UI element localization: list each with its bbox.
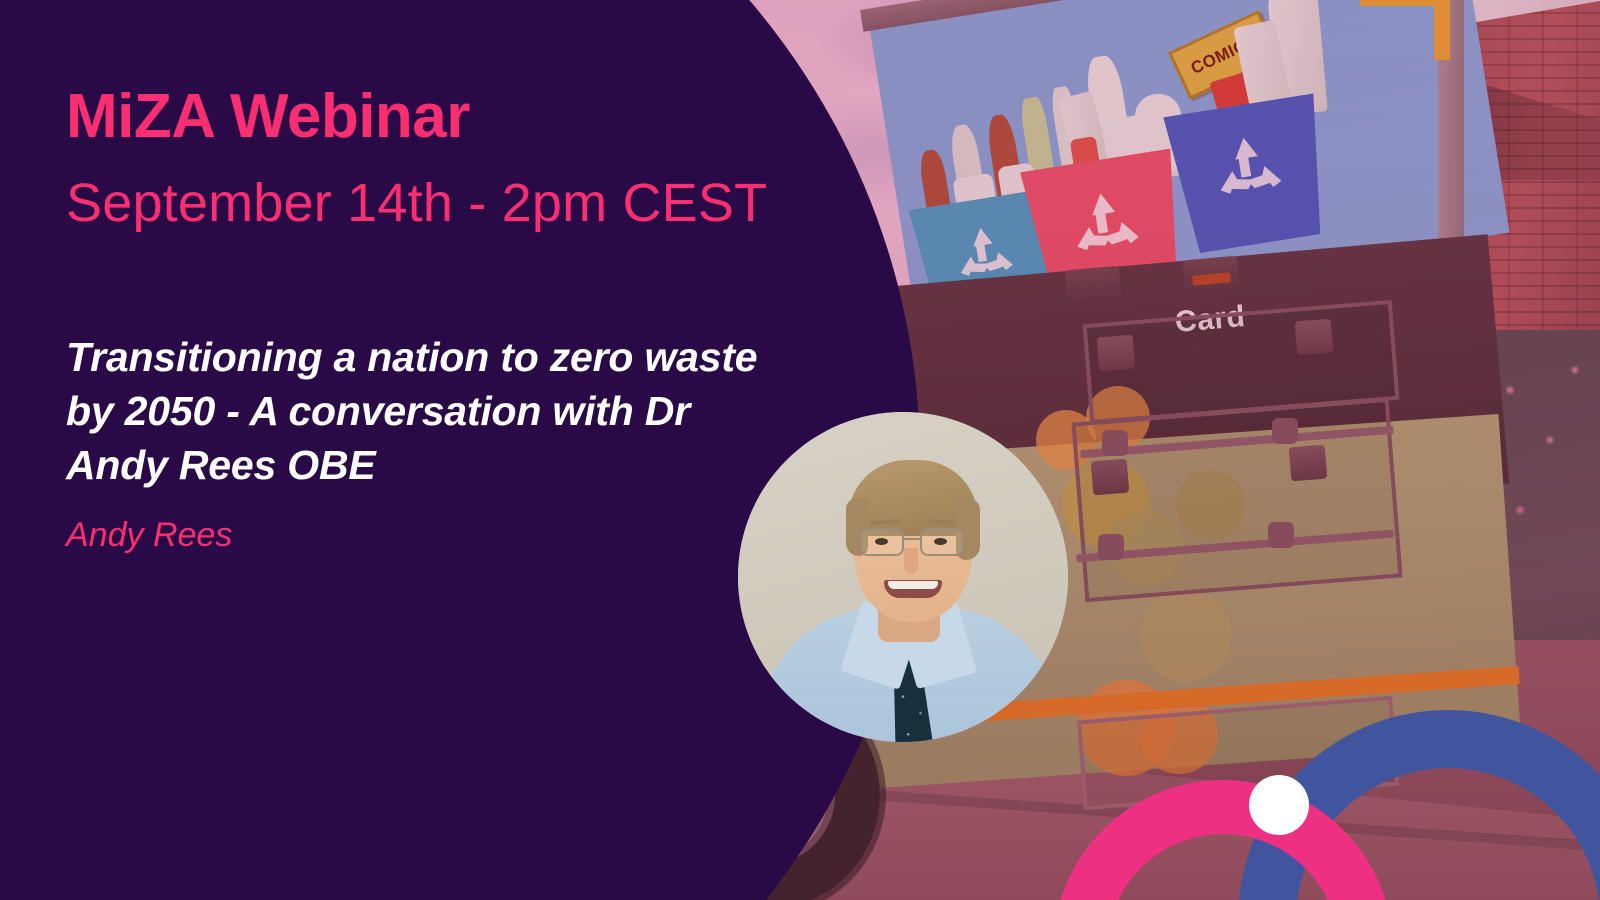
decorative-dot-white bbox=[1249, 775, 1309, 835]
portrait-eye-left bbox=[875, 538, 888, 545]
webinar-series-title: MiZA Webinar bbox=[66, 86, 470, 148]
speaker-portrait bbox=[738, 412, 1068, 742]
glasses-bridge bbox=[904, 538, 920, 540]
speaker-name: Andy Rees bbox=[66, 518, 232, 552]
portrait-eye-right bbox=[934, 538, 947, 545]
portrait-teeth bbox=[888, 581, 938, 589]
webinar-datetime: September 14th - 2pm CEST bbox=[66, 176, 767, 230]
webinar-promo-banner: COMICS bbox=[0, 0, 1600, 900]
portrait-nose bbox=[904, 548, 918, 574]
webinar-talk-title: Transitioning a nation to zero waste by … bbox=[66, 330, 796, 492]
